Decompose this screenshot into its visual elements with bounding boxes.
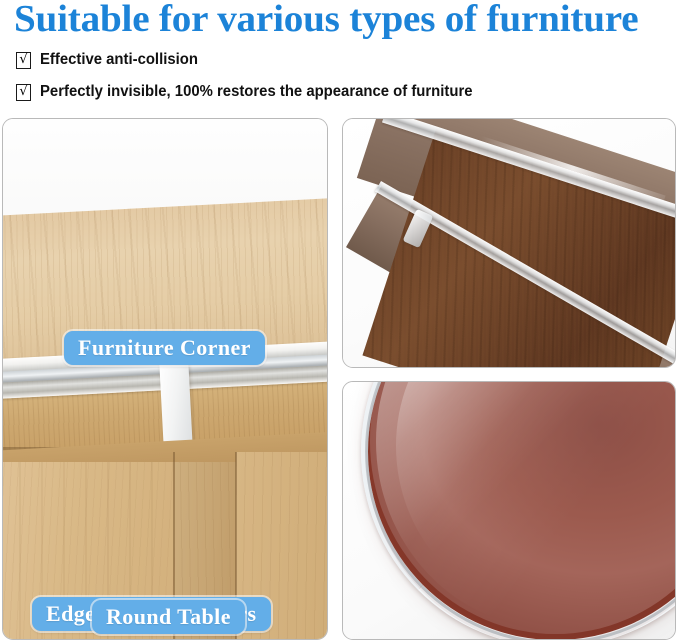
- feature-bullet-label: Perfectly invisible, 100% restores the a…: [40, 83, 473, 101]
- feature-bullet-label: Effective anti-collision: [40, 51, 198, 69]
- checkmark-icon: √: [16, 52, 31, 69]
- product-photo-edge-bumpers: [2, 118, 328, 640]
- round-table-illustration: [343, 382, 675, 639]
- header-block: Suitable for various types of furniture …: [0, 0, 679, 115]
- product-photo-round-table: [342, 381, 676, 640]
- feature-bullet: √ Perfectly invisible, 100% restores the…: [16, 83, 505, 101]
- desk-edge-guard-illustration: [3, 119, 327, 639]
- page-title: Suitable for various types of furniture: [14, 0, 679, 40]
- caption-badge-furniture-corner: Furniture Corner: [64, 331, 265, 365]
- furniture-corner-illustration: [343, 119, 675, 367]
- caption-badge-round-table: Round Table: [92, 600, 245, 634]
- feature-bullet: √ Effective anti-collision: [16, 51, 210, 69]
- checkmark-icon: √: [16, 84, 31, 101]
- product-photo-furniture-corner: [342, 118, 676, 368]
